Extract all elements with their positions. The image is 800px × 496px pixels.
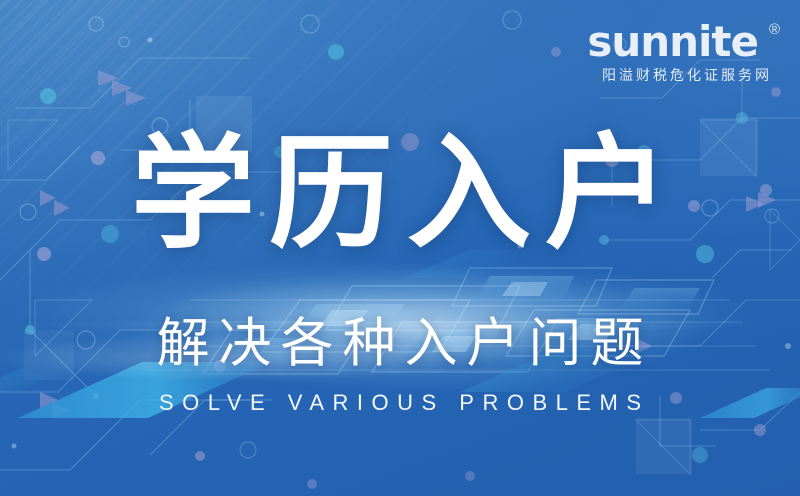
- headline-subtitle-english: SOLVE VARIOUS PROBLEMS: [0, 392, 800, 414]
- brand-logo[interactable]: sunnite ® 阳溢财税危化证服务网: [548, 22, 780, 84]
- headline-title: 学历入户: [0, 132, 800, 256]
- logo-wordmark: sunnite: [548, 22, 780, 62]
- headline-subtitle-chinese: 解决各种入户问题: [0, 317, 800, 370]
- logo-chinese-name: 阳溢财税危化证服务网: [548, 67, 780, 84]
- registered-trademark-icon: ®: [769, 22, 780, 37]
- logo-wordmark-wrapper: sunnite ®: [548, 22, 780, 62]
- promo-banner: sunnite ® 阳溢财税危化证服务网 学历入户 解决各种入户问题 SOLVE…: [0, 0, 800, 496]
